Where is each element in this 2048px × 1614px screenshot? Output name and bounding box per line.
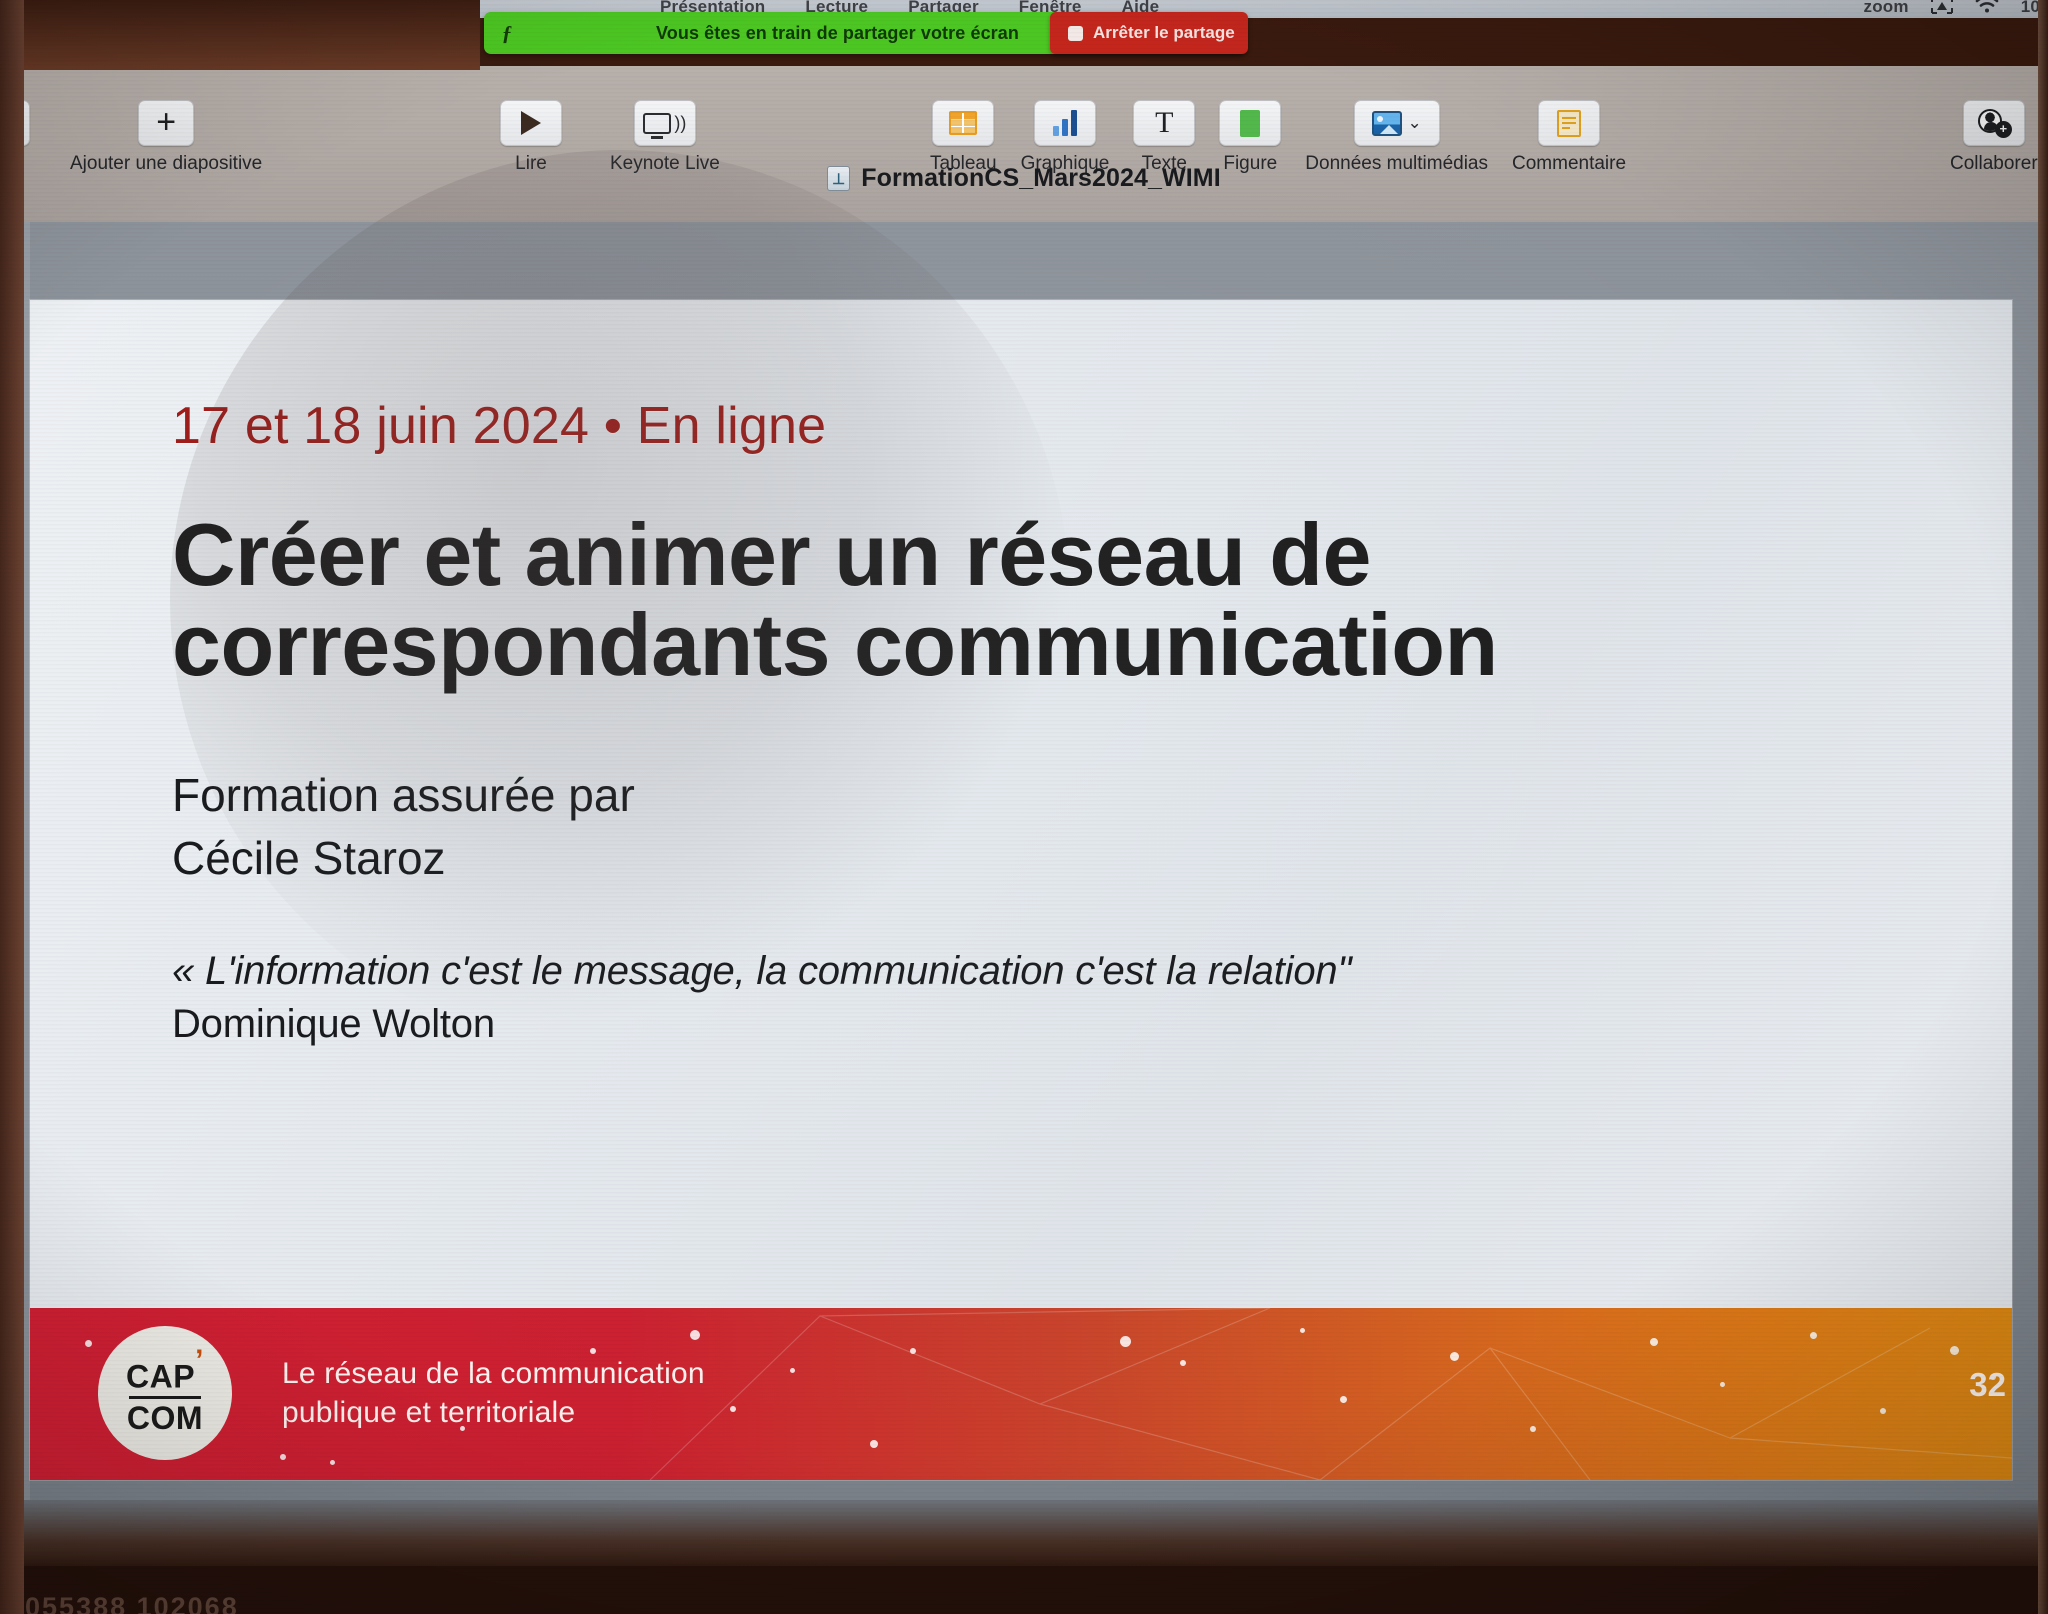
insert-chart-button[interactable] xyxy=(1034,100,1096,146)
keynote-canvas: 17 et 18 juin 2024 • En ligne Créer et a… xyxy=(0,222,2048,1566)
presenter-name: Cécile Staroz xyxy=(172,831,1952,886)
desk-strip xyxy=(0,1500,2048,1566)
collaborate-button[interactable]: + xyxy=(1963,100,2025,146)
slide-content: 17 et 18 juin 2024 • En ligne Créer et a… xyxy=(172,396,1952,1048)
keynote-live-button[interactable]: )) xyxy=(634,100,696,146)
insert-text-button[interactable]: T xyxy=(1133,100,1195,146)
chart-icon xyxy=(1053,110,1077,136)
keynote-toolbar: ⊥ FormationCS_Mars2024_WIMI ⌄ + Ajouter … xyxy=(0,66,2048,222)
monitor-serial-text: 1055388 102068 xyxy=(8,1592,239,1614)
slide-title: Créer et animer un réseau de corresponda… xyxy=(172,510,1732,690)
tagline-line-2: publique et territoriale xyxy=(282,1393,705,1432)
monitor-right-bezel xyxy=(2038,0,2048,1614)
logo-cap: CAP’ xyxy=(126,1352,204,1393)
logo-rule xyxy=(129,1396,201,1399)
stop-square-icon xyxy=(1068,26,1083,41)
logo-com: COM xyxy=(127,1402,203,1434)
play-button[interactable] xyxy=(500,100,562,146)
stop-share-label: Arrêter le partage xyxy=(1093,23,1235,43)
document-title: FormationCS_Mars2024_WIMI xyxy=(861,164,1221,193)
wifi-icon[interactable] xyxy=(1975,0,1999,18)
capcom-logo: CAP’ COM xyxy=(98,1326,232,1460)
insert-comment-button[interactable] xyxy=(1538,100,1600,146)
screenshot-root: ⊥ FormationCS_Mars2024_WIMI ⌄ + Ajouter … xyxy=(0,0,2048,1614)
slide-page-number: 32 xyxy=(1969,1366,2006,1404)
insert-shape-button[interactable] xyxy=(1219,100,1281,146)
add-slide-button[interactable]: + xyxy=(138,100,194,146)
footer-tagline: Le réseau de la communication publique e… xyxy=(282,1354,705,1432)
display-sound-icon xyxy=(643,113,671,134)
keynote-document-icon: ⊥ xyxy=(827,166,850,191)
quote-text: « L'information c'est le message, la com… xyxy=(172,948,1952,995)
slide-eyebrow: 17 et 18 juin 2024 • En ligne xyxy=(172,396,1952,456)
text-icon: T xyxy=(1155,108,1173,138)
add-person-icon: + xyxy=(1978,109,2010,137)
monitor-left-bezel xyxy=(0,0,24,1614)
sound-wave-icon: )) xyxy=(674,113,686,134)
tagline-line-1: Le réseau de la communication xyxy=(282,1354,705,1393)
slide-canvas[interactable]: 17 et 18 juin 2024 • En ligne Créer et a… xyxy=(30,300,2012,1480)
slide-presenter: Formation assurée par Cécile Staroz xyxy=(172,768,1952,886)
slide-quote: « L'information c'est le message, la com… xyxy=(172,948,1952,1048)
insert-media-button[interactable]: ⌄ xyxy=(1354,100,1440,146)
monitor-bottom-bezel: 1055388 102068 xyxy=(0,1566,2048,1614)
slide-footer-band: CAP’ COM Le réseau de la communication p… xyxy=(30,1308,2012,1480)
keynote-window: ⊥ FormationCS_Mars2024_WIMI ⌄ + Ajouter … xyxy=(0,66,2048,1566)
presenter-label: Formation assurée par xyxy=(172,768,1952,823)
document-title-bar: ⊥ FormationCS_Mars2024_WIMI xyxy=(0,164,2048,193)
monitor-top-bezel-left xyxy=(0,0,480,70)
shape-icon xyxy=(1240,110,1260,137)
table-icon xyxy=(949,111,977,135)
screen-record-icon[interactable] xyxy=(1931,0,1953,18)
status-zoom-app[interactable]: zoom xyxy=(1864,0,1909,17)
comment-icon xyxy=(1557,110,1581,137)
stop-share-button[interactable]: Arrêter le partage xyxy=(1050,12,1248,54)
plus-icon: + xyxy=(156,110,176,136)
media-icon xyxy=(1372,111,1402,136)
logo-apostrophe: ’ xyxy=(195,1344,204,1377)
zoom-logo-icon: ƒ xyxy=(490,21,524,46)
play-icon xyxy=(521,111,541,135)
quote-author: Dominique Wolton xyxy=(172,1001,1952,1048)
insert-table-button[interactable] xyxy=(932,100,994,146)
chevron-down-icon: ⌄ xyxy=(1408,113,1422,133)
menubar-status-items: zoom 10 xyxy=(1864,0,2048,18)
